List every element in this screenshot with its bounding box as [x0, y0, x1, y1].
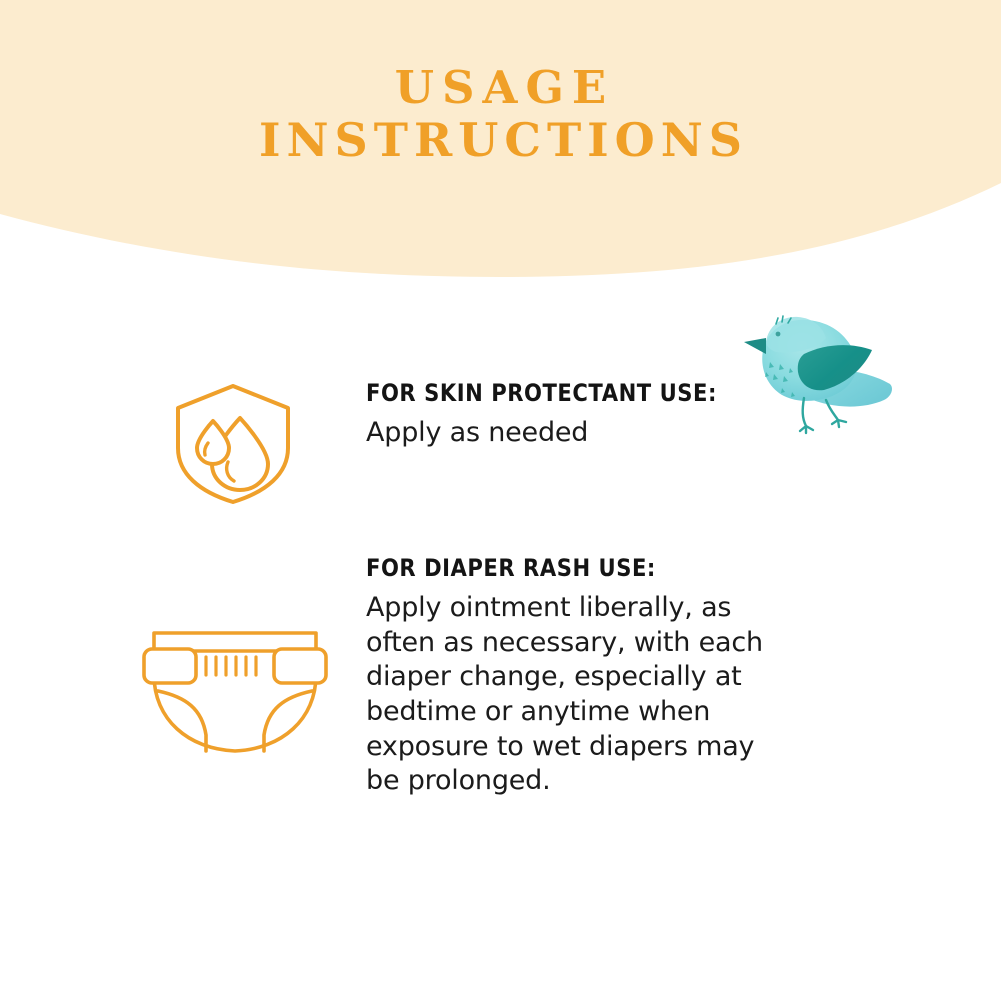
droplet-small	[197, 421, 229, 464]
bird-illustration	[722, 302, 907, 442]
shield-outline	[178, 386, 288, 502]
bird-icon	[722, 302, 907, 442]
diaper-center-ticks	[206, 657, 256, 675]
shield-droplet-glyph	[172, 382, 294, 506]
diaper-glyph	[140, 623, 330, 758]
diaper-tab-left	[144, 649, 196, 683]
diaper-tab-right	[274, 649, 326, 683]
content-area: FOR SKIN PROTECTANT USE: Apply as needed	[0, 0, 1001, 1001]
bird-eye	[776, 332, 781, 337]
shield-droplet-icon	[172, 382, 294, 506]
section-skin-protectant-heading: FOR SKIN PROTECTANT USE:	[366, 380, 771, 406]
section-diaper-rash-heading: FOR DIAPER RASH USE:	[366, 555, 771, 581]
section-diaper-rash-text: FOR DIAPER RASH USE: Apply ointment libe…	[366, 555, 826, 799]
diaper-icon	[140, 623, 330, 758]
droplet-large-shine	[227, 462, 234, 481]
usage-instructions-card: USAGE INSTRUCTIONS	[0, 0, 1001, 1001]
bird-beak	[744, 338, 766, 354]
section-diaper-rash-body: Apply ointment liberally, as often as ne…	[366, 591, 796, 798]
